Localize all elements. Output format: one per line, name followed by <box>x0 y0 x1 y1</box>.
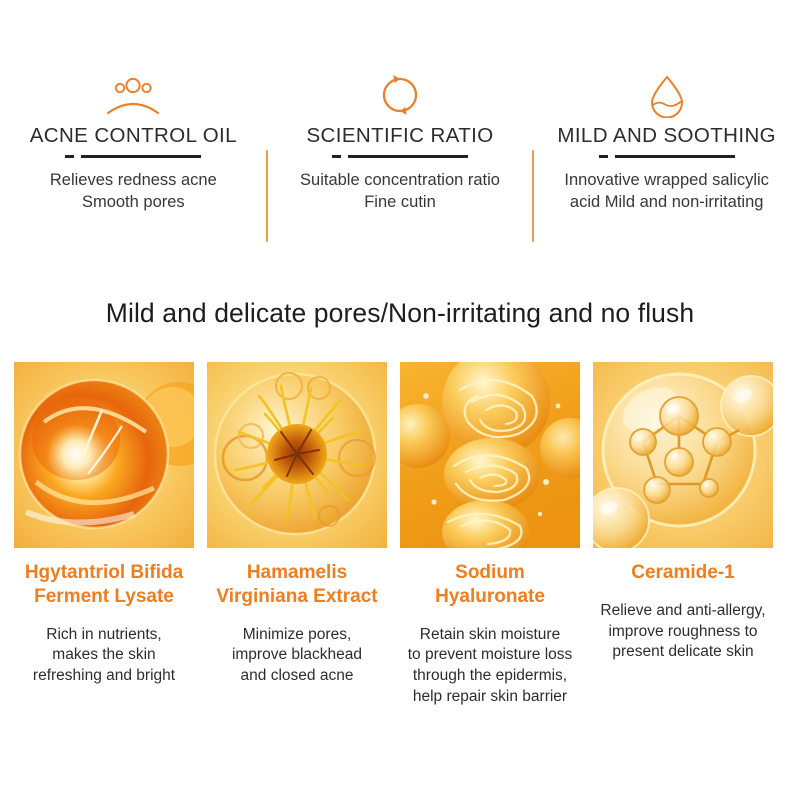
molecule-in-bubble-image <box>593 362 773 548</box>
ingredient-card: Hgytantriol BifidaFerment Lysate Rich in… <box>14 362 194 707</box>
witch-hazel-flower-bubble-image <box>207 362 387 548</box>
rule-bar <box>348 155 468 158</box>
ingredient-description: Minimize pores,improve blackheadand clos… <box>232 625 362 687</box>
section-headline: Mild and delicate pores/Non-irritating a… <box>0 298 800 329</box>
glowing-amber-sphere-image <box>14 362 194 548</box>
feature-description: Relieves redness acneSmooth pores <box>50 169 217 214</box>
ingredient-description: Rich in nutrients,makes the skinrefreshi… <box>33 625 175 687</box>
product-feature-infographic: ACNE CONTROL OIL Relieves redness acneSm… <box>0 0 800 800</box>
ingredient-name: Ceramide-1 <box>631 561 735 585</box>
feature-row: ACNE CONTROL OIL Relieves redness acneSm… <box>0 72 800 252</box>
feature-description: Innovative wrapped salicylicacid Mild an… <box>564 169 769 214</box>
ingredient-name: Hgytantriol BifidaFerment Lysate <box>25 561 183 609</box>
feature-mild-and-soothing: MILD AND SOOTHING Innovative wrapped sal… <box>533 72 800 252</box>
title-rule <box>65 155 201 158</box>
feature-title: ACNE CONTROL OIL <box>30 124 237 148</box>
ingredient-name: SodiumHyaluronate <box>435 561 545 609</box>
feature-scientific-ratio: SCIENTIFIC RATIO Suitable concentration … <box>267 72 534 252</box>
feature-title: MILD AND SOOTHING <box>557 124 776 148</box>
rule-dash <box>65 155 74 158</box>
feature-acne-control-oil: ACNE CONTROL OIL Relieves redness acneSm… <box>0 72 267 252</box>
ingredient-description: Retain skin moistureto prevent moisture … <box>408 625 573 707</box>
ingredient-card: SodiumHyaluronate Retain skin moistureto… <box>400 362 580 707</box>
rule-bar <box>615 155 735 158</box>
feature-title: SCIENTIFIC RATIO <box>306 124 493 148</box>
title-rule <box>332 155 468 158</box>
pores-face-icon <box>98 72 168 118</box>
golden-gel-droplets-image <box>400 362 580 548</box>
ingredient-description: Relieve and anti-allergy,improve roughne… <box>600 601 765 663</box>
ingredient-card-row: Hgytantriol BifidaFerment Lysate Rich in… <box>14 362 786 707</box>
cycle-arrows-icon <box>365 72 435 118</box>
water-droplet-icon <box>632 72 702 118</box>
rule-dash <box>332 155 341 158</box>
ingredient-card: Ceramide-1 Relieve and anti-allergy,impr… <box>593 362 773 707</box>
title-rule <box>599 155 735 158</box>
rule-bar <box>81 155 201 158</box>
ingredient-name: HamamelisVirginiana Extract <box>216 561 377 609</box>
rule-dash <box>599 155 608 158</box>
ingredient-card: HamamelisVirginiana Extract Minimize por… <box>207 362 387 707</box>
feature-description: Suitable concentration ratioFine cutin <box>300 169 500 214</box>
